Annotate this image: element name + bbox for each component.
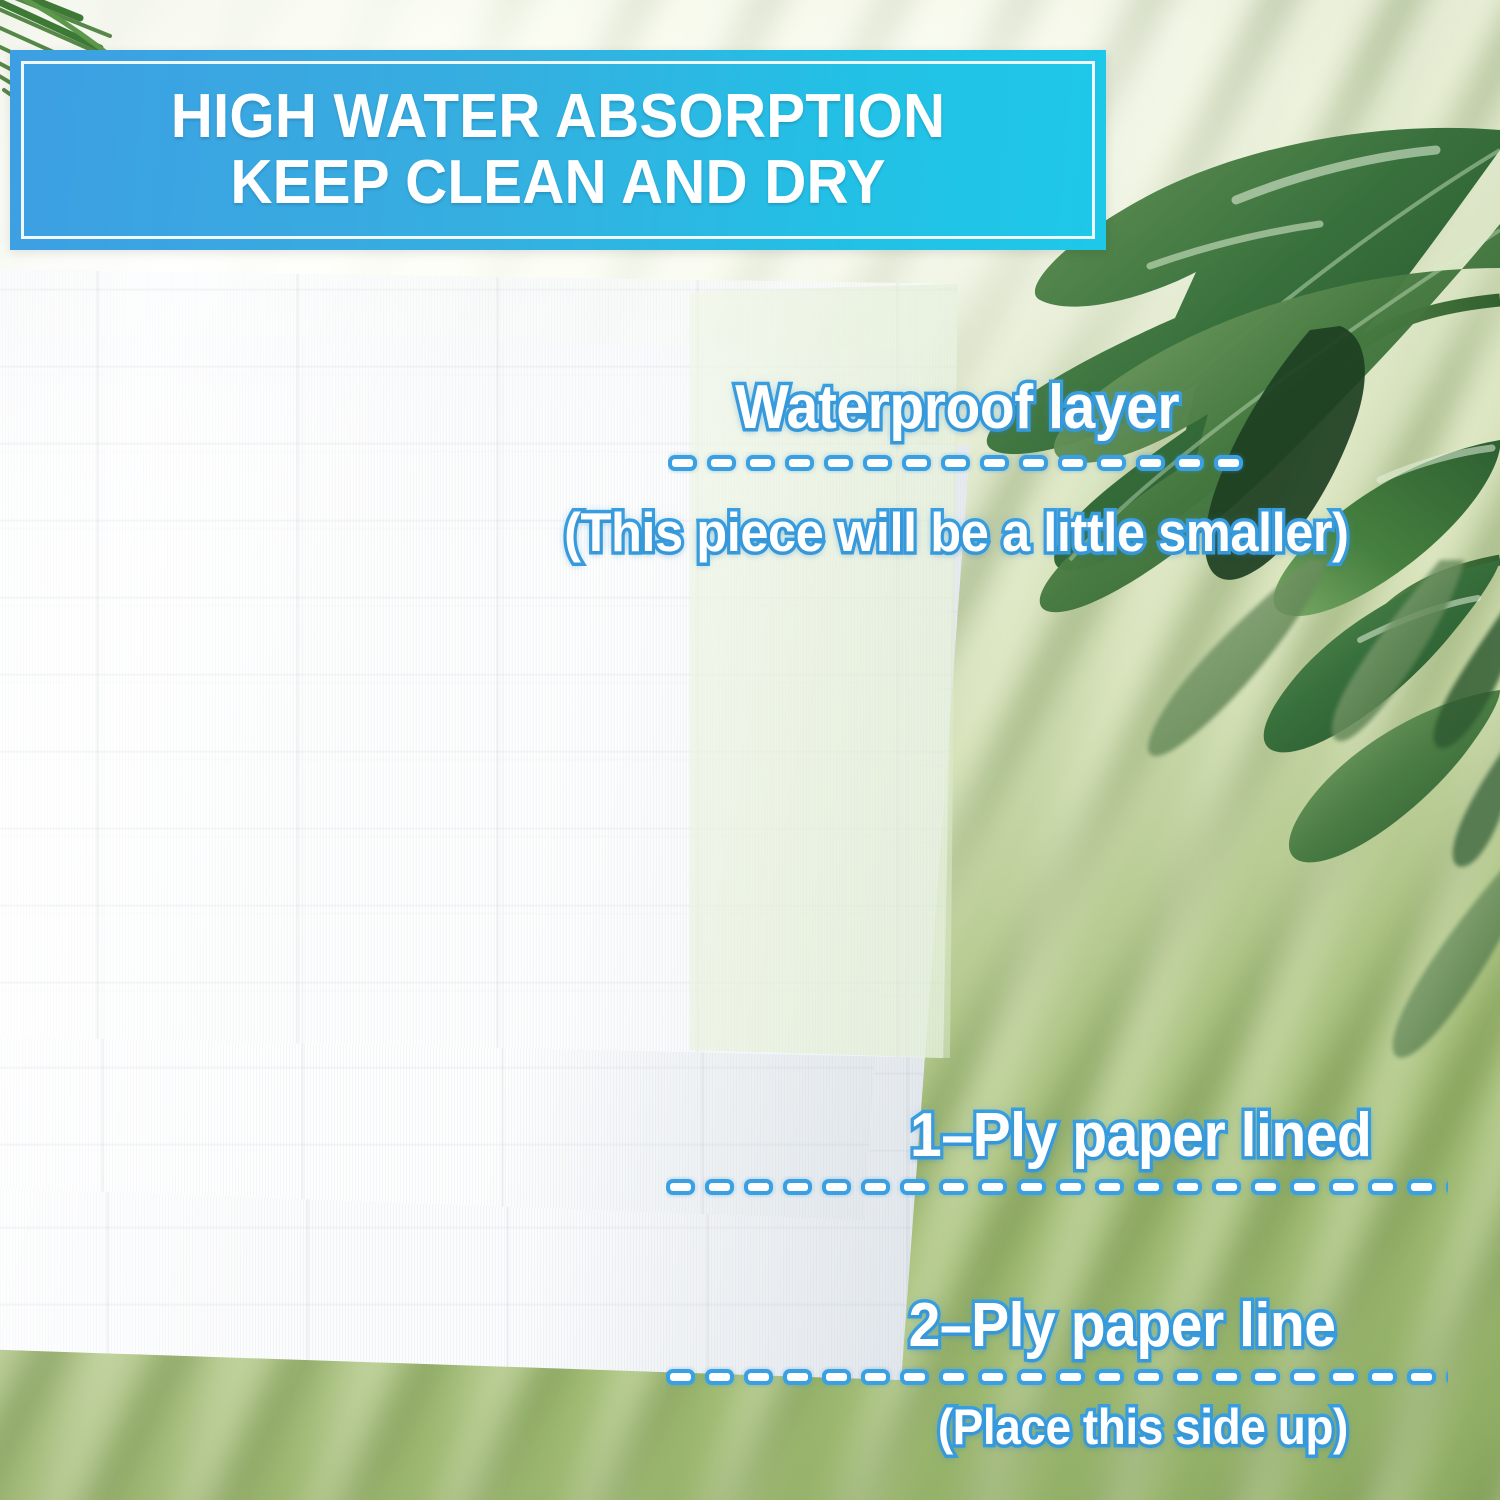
dash-segment [707,455,736,471]
dash-segment [1134,1179,1163,1195]
dash-segment [1407,1369,1436,1385]
dash-segment [666,1179,695,1195]
callout-two-ply-title: 2–Ply paper line [909,1290,1336,1361]
callout-waterproof-dashline [668,452,1246,474]
callout-waterproof-note: (This piece will be a little smaller) [564,500,1348,564]
dash-segment [746,455,775,471]
dash-segment [1212,1179,1241,1195]
dash-segment [668,455,697,471]
dash-segment [705,1369,734,1385]
callout-one-ply-dashline [666,1176,1448,1198]
callout-two-ply-note: (Place this side up) [938,1398,1348,1456]
callout-waterproof-title: Waterproof layer [735,372,1179,443]
dash-segment [1095,1369,1124,1385]
dash-segment [666,1369,695,1385]
callout-one-ply-title: 1–Ply paper lined [910,1100,1371,1171]
dash-segment [978,1369,1007,1385]
dash-segment [861,1179,890,1195]
dash-segment [1056,1179,1085,1195]
dash-segment [902,455,931,471]
dash-segment [900,1369,929,1385]
banner-line-1: HIGH WATER ABSORPTION [171,85,946,149]
dash-segment [1134,1369,1163,1385]
dash-segment [1173,1369,1202,1385]
dash-segment [1019,455,1048,471]
dash-segment [1136,455,1165,471]
dash-segment [1446,1179,1448,1195]
dash-segment [978,1179,1007,1195]
dash-segment [1446,1369,1448,1385]
dash-segment [744,1369,773,1385]
dash-segment [783,1179,812,1195]
dash-segment [1290,1179,1319,1195]
dash-segment [822,1369,851,1385]
dash-segment [1017,1369,1046,1385]
dash-segment [705,1179,734,1195]
product-feature-image: HIGH WATER ABSORPTION KEEP CLEAN AND DRY… [0,0,1500,1500]
dash-segment [1251,1179,1280,1195]
dash-segment [1097,455,1126,471]
dash-segment [863,455,892,471]
dash-segment [1173,1179,1202,1195]
dash-segment [861,1369,890,1385]
dash-segment [1175,455,1204,471]
dash-segment [822,1179,851,1195]
dash-segment [1212,1369,1241,1385]
dash-segment [1251,1369,1280,1385]
dash-segment [744,1179,773,1195]
dash-segment [1329,1369,1358,1385]
dash-segment [1214,455,1243,471]
dash-segment [1017,1179,1046,1195]
dash-segment [785,455,814,471]
dash-segment [1368,1369,1397,1385]
dash-segment [980,455,1009,471]
callout-two-ply-dashline [666,1366,1448,1388]
dash-segment [1058,455,1087,471]
dash-segment [941,455,970,471]
dash-segment [1290,1369,1319,1385]
banner-line-2: KEEP CLEAN AND DRY [230,151,885,215]
dash-segment [824,455,853,471]
dash-segment [1407,1179,1436,1195]
banner-text: HIGH WATER ABSORPTION KEEP CLEAN AND DRY [43,50,1073,250]
dash-segment [1368,1179,1397,1195]
dash-segment [783,1369,812,1385]
dash-segment [939,1179,968,1195]
dash-segment [1329,1179,1358,1195]
dash-segment [900,1179,929,1195]
dash-segment [1056,1369,1085,1385]
dash-segment [1095,1179,1124,1195]
headline-banner: HIGH WATER ABSORPTION KEEP CLEAN AND DRY [10,50,1106,250]
dash-segment [939,1369,968,1385]
